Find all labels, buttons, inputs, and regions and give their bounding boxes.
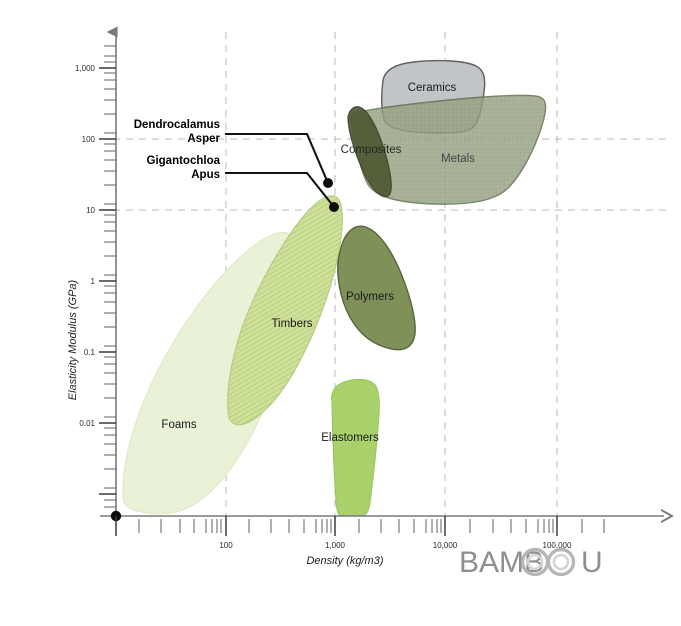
svg-text:100: 100 [219, 541, 233, 550]
callout-label-asper-line2: Asper [187, 133, 220, 145]
region-label-timbers: Timbers [271, 318, 312, 330]
region-label-foams: Foams [161, 419, 196, 431]
svg-text:100: 100 [82, 135, 96, 144]
callout-label-apus-line2: Apus [191, 169, 220, 181]
x-axis-ticks [116, 516, 604, 536]
svg-text:10: 10 [86, 206, 95, 215]
bamboo-u-logo: BAMB U [459, 546, 603, 579]
svg-text:1: 1 [91, 277, 96, 286]
svg-text:1,000: 1,000 [75, 64, 96, 73]
callout-label-apus-line1: Gigantochloa [147, 155, 221, 167]
y-axis-title: Elasticity Modulus (GPa) [67, 279, 79, 400]
point-gigantochloa-apus [329, 202, 339, 212]
callout-gigantochloa-apus: Gigantochloa Apus [147, 155, 339, 212]
y-axis-ticks [99, 46, 116, 507]
svg-text:0.1: 0.1 [84, 348, 96, 357]
region-label-composites: Composites [341, 144, 402, 156]
callout-dendrocalamus-asper: Dendrocalamus Asper [134, 119, 333, 188]
region-label-metals: Metals [441, 153, 475, 165]
region-label-elastomers: Elastomers [321, 432, 379, 444]
chart-svg: Foams Timbers Polymers Elastomers Cerami… [0, 0, 681, 626]
point-dendrocalamus-asper [323, 178, 333, 188]
ashby-chart: Foams Timbers Polymers Elastomers Cerami… [0, 0, 681, 626]
svg-text:1,000: 1,000 [325, 541, 346, 550]
region-elastomers: Elastomers [321, 379, 379, 516]
callout-label-asper-line1: Dendrocalamus [134, 119, 220, 131]
svg-text:0.01: 0.01 [79, 419, 95, 428]
region-polymers: Polymers [338, 226, 415, 349]
logo-suffix: U [581, 546, 603, 579]
svg-text:10,000: 10,000 [433, 541, 458, 550]
x-axis-title: Density (kg/m3) [306, 555, 383, 567]
logo-ring-icon-2 [549, 550, 574, 575]
region-label-polymers: Polymers [346, 291, 394, 303]
region-label-ceramics: Ceramics [408, 82, 457, 94]
